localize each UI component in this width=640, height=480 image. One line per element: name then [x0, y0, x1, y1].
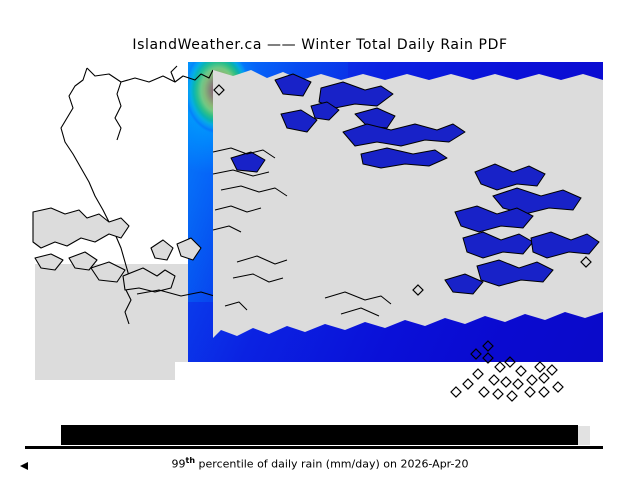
- rainfall-color-field: [188, 62, 603, 392]
- colorbar-axis-line: [25, 446, 603, 449]
- caption-ordinal-suffix: th: [186, 456, 196, 465]
- colorbar-caption: 99th percentile of daily rain (mm/day) o…: [0, 456, 640, 471]
- weather-figure: IslandWeather.ca —— Winter Total Daily R…: [0, 0, 640, 480]
- colorbar: [25, 425, 603, 447]
- outside-domain-bottom-strip: [25, 380, 603, 405]
- rainfall-raster: [188, 62, 603, 392]
- colorbar-overflow-swatch: [578, 426, 590, 445]
- map-panel: [25, 62, 603, 405]
- outside-domain-left: [25, 62, 188, 264]
- caption-value: 99: [172, 458, 186, 471]
- caption-text: percentile of daily rain (mm/day) on 202…: [195, 458, 468, 471]
- colorbar-gradient: [61, 425, 578, 445]
- page-title: IslandWeather.ca —— Winter Total Daily R…: [0, 37, 640, 53]
